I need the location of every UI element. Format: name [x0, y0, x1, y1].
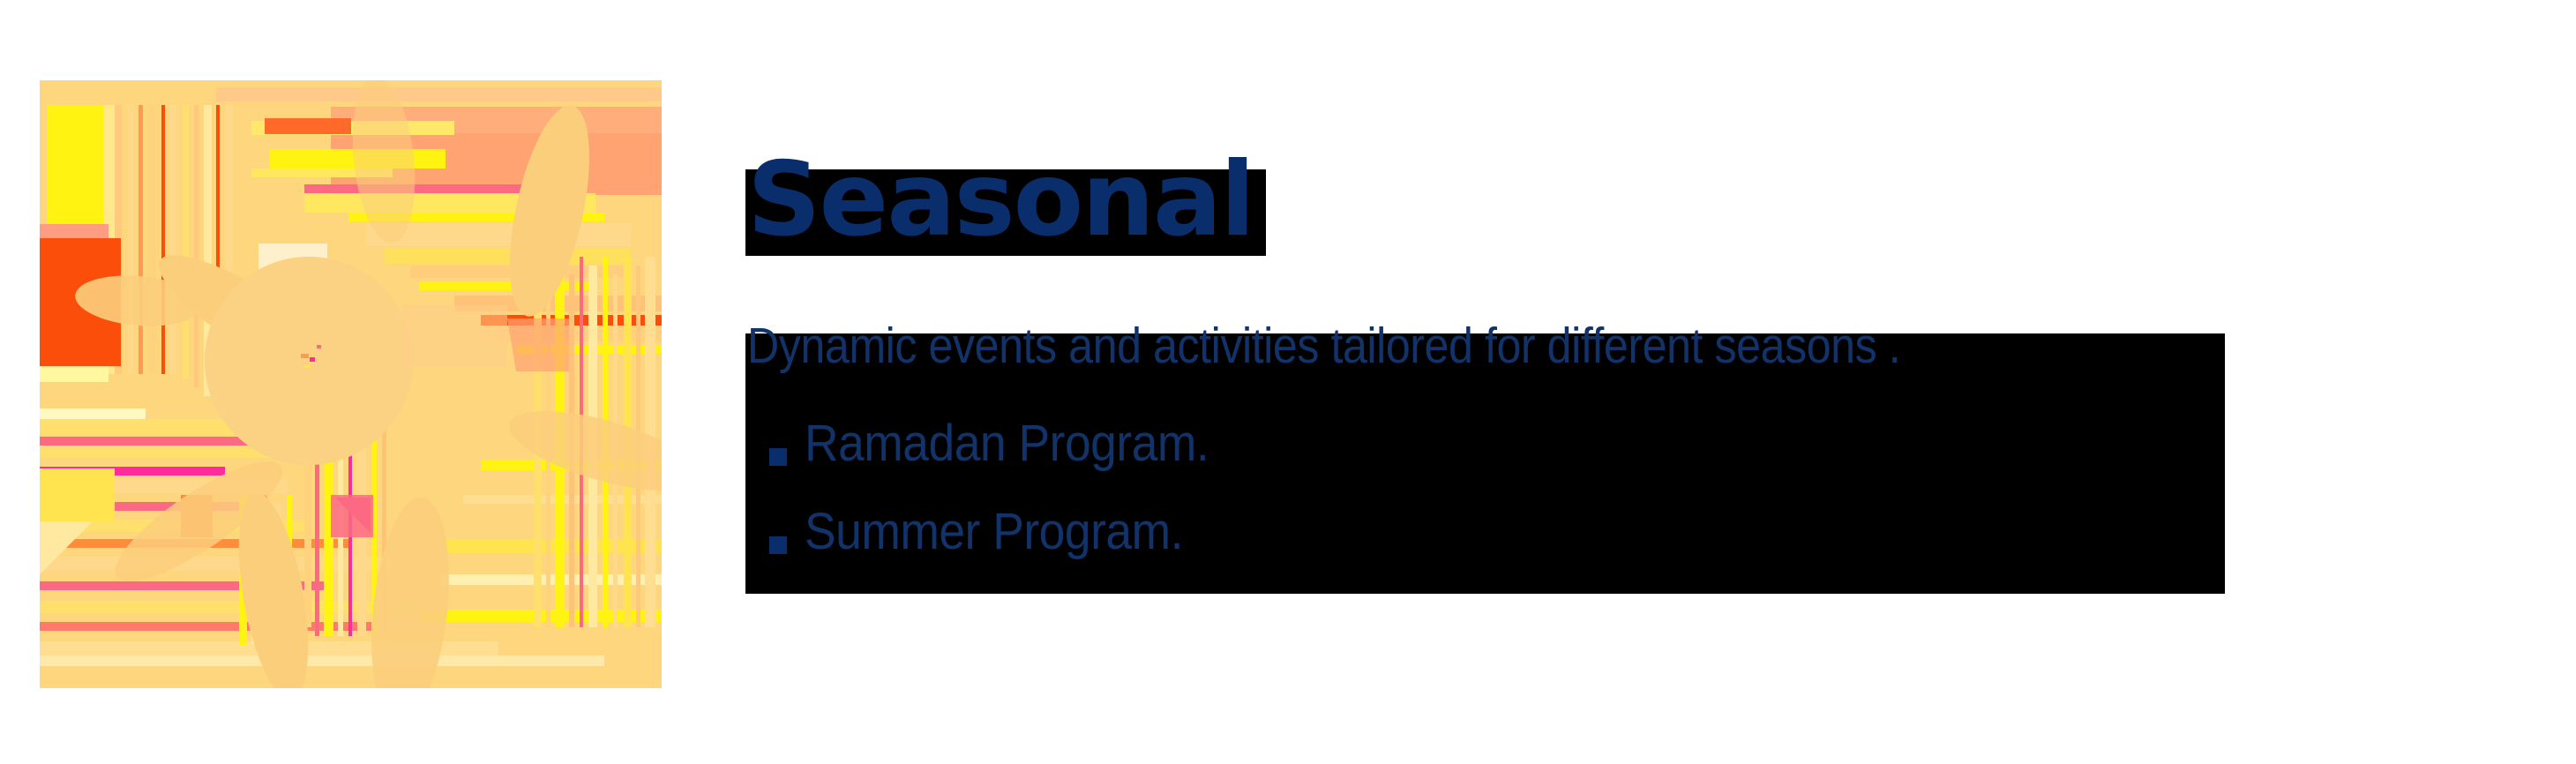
content-column: Seasonal Dynamic events and activities t…: [745, 0, 2245, 764]
list-item-label: Ramadan Program.: [805, 418, 1209, 469]
sun-core: [205, 257, 413, 465]
page-title: Seasonal: [747, 149, 1254, 251]
square-bullet-icon: [769, 536, 787, 554]
sun-illustration: [40, 80, 662, 688]
title-band: Seasonal: [745, 169, 1266, 256]
body-band: Dynamic events and activities tailored f…: [745, 333, 2225, 594]
intro-paragraph: Dynamic events and activities tailored f…: [747, 321, 1900, 371]
list-item-label: Summer Program.: [805, 506, 1183, 558]
sun-icon: [40, 80, 662, 688]
square-bullet-icon: [769, 448, 787, 466]
